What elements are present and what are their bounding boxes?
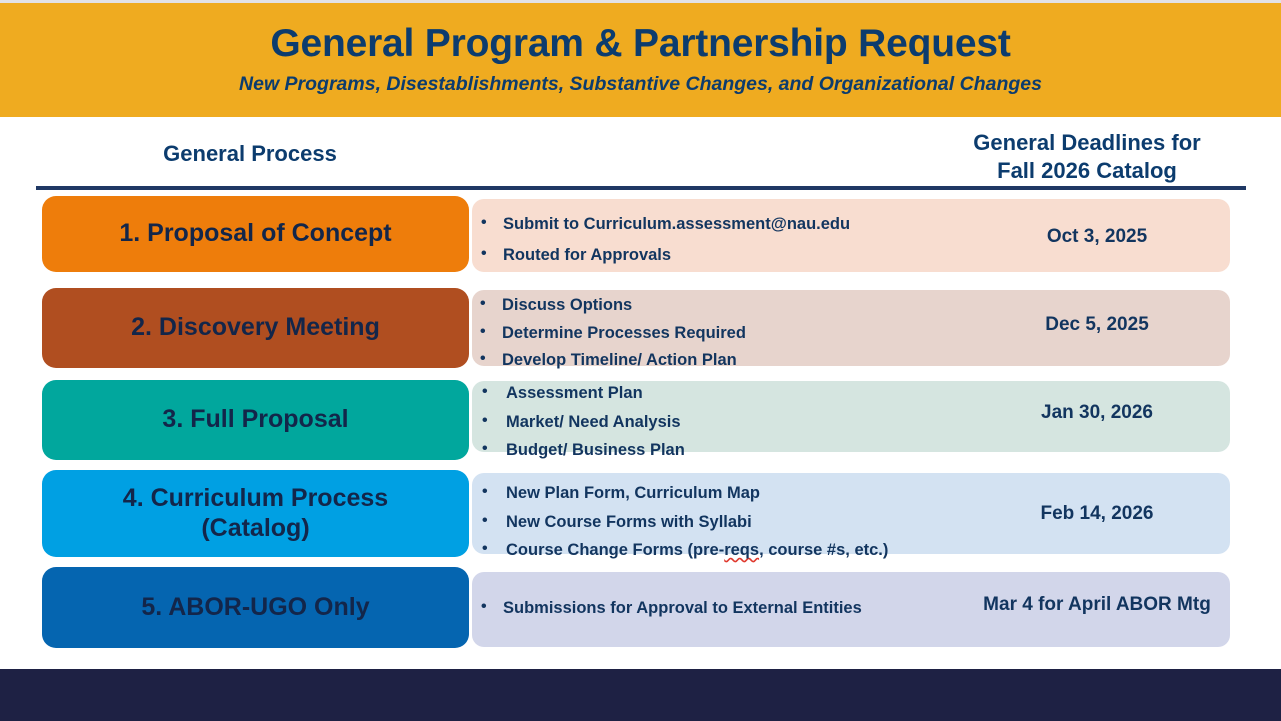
bullet-list-3: Assessment Plan Market/ Need Analysis Bu… [482, 385, 685, 459]
list-item: Assessment Plan [482, 385, 685, 402]
footer-bar [0, 669, 1281, 721]
bullet-text-prefix: Course Change Forms (pre- [506, 541, 724, 559]
list-item: Routed for Approvals [481, 247, 850, 264]
bullet-list-2: Discuss Options Determine Processes Requ… [480, 297, 746, 369]
list-item: Budget/ Business Plan [482, 442, 685, 459]
list-item: Submissions for Approval to External Ent… [481, 600, 862, 617]
stage-label-3: 3. Full Proposal [162, 405, 348, 435]
spellcheck-error-text: reqs [724, 541, 759, 559]
stage-pill-3[interactable]: 3. Full Proposal [42, 380, 469, 460]
deadline-2: Dec 5, 2025 [960, 314, 1234, 336]
deadline-3: Jan 30, 2026 [960, 402, 1234, 424]
list-item: Discuss Options [480, 297, 746, 314]
bullet-list-5: Submissions for Approval to External Ent… [481, 600, 862, 617]
stage-label-4-line-2: (Catalog) [201, 514, 309, 544]
stage-pill-1[interactable]: 1. Proposal of Concept [42, 196, 469, 272]
stage-label-5: 5. ABOR-UGO Only [141, 593, 369, 623]
deadline-5: Mar 4 for April ABOR Mtg [960, 594, 1234, 616]
stage-label-4-line-1: 4. Curriculum Process [123, 484, 388, 514]
slide-canvas: General Program & Partnership Request Ne… [0, 0, 1281, 721]
list-item: Submit to Curriculum.assessment@nau.edu [481, 216, 850, 233]
stage-label-1: 1. Proposal of Concept [119, 219, 391, 249]
list-item: New Course Forms with Syllabi [482, 514, 888, 531]
stage-label-2: 2. Discovery Meeting [131, 313, 380, 343]
process-rows: 1. Proposal of Concept Submit to Curricu… [0, 0, 1281, 721]
stage-pill-5[interactable]: 5. ABOR-UGO Only [42, 567, 469, 648]
list-item: New Plan Form, Curriculum Map [482, 485, 888, 502]
stage-pill-4[interactable]: 4. Curriculum Process (Catalog) [42, 470, 469, 557]
list-item: Market/ Need Analysis [482, 414, 685, 431]
list-item: Determine Processes Required [480, 325, 746, 342]
deadline-4: Feb 14, 2026 [960, 503, 1234, 525]
bullet-list-4: New Plan Form, Curriculum Map New Course… [482, 485, 888, 559]
list-item: Develop Timeline/ Action Plan [480, 352, 746, 369]
stage-pill-2[interactable]: 2. Discovery Meeting [42, 288, 469, 368]
bullet-text-suffix: , course #s, etc.) [759, 541, 888, 559]
deadline-1: Oct 3, 2025 [960, 226, 1234, 248]
bullet-list-1: Submit to Curriculum.assessment@nau.edu … [481, 216, 850, 263]
list-item-misspelled: Course Change Forms (pre-reqs, course #s… [482, 542, 888, 559]
